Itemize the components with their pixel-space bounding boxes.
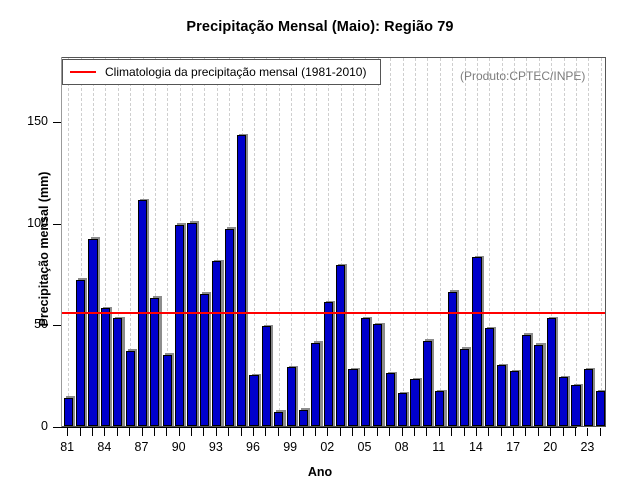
gridline <box>304 58 305 426</box>
x-tick-label: 93 <box>201 440 231 454</box>
y-tick <box>53 325 61 326</box>
bar-89[interactable] <box>163 355 172 426</box>
x-tick <box>538 428 539 436</box>
x-tick-label: 81 <box>52 440 82 454</box>
bar-95[interactable] <box>237 135 246 426</box>
x-tick <box>278 428 279 436</box>
x-tick <box>575 428 576 436</box>
legend-label: Climatologia da precipitação mensal (198… <box>105 65 366 79</box>
x-tick-label: 99 <box>275 440 305 454</box>
x-tick <box>364 428 365 436</box>
bar-23[interactable] <box>584 369 593 426</box>
x-tick <box>203 428 204 436</box>
bar-22[interactable] <box>571 385 580 426</box>
x-tick <box>92 428 93 436</box>
x-tick-label: 84 <box>89 440 119 454</box>
bar-07[interactable] <box>386 373 395 426</box>
x-tick <box>327 428 328 436</box>
x-tick <box>216 428 217 436</box>
x-tick <box>501 428 502 436</box>
x-tick <box>179 428 180 436</box>
x-tick <box>166 428 167 436</box>
x-tick <box>451 428 452 436</box>
x-tick <box>476 428 477 436</box>
bar-13[interactable] <box>460 349 469 426</box>
x-tick <box>389 428 390 436</box>
bar-97[interactable] <box>262 326 271 426</box>
x-tick <box>352 428 353 436</box>
plot-area <box>61 57 606 427</box>
x-tick <box>550 428 551 436</box>
bar-90[interactable] <box>175 225 184 426</box>
bar-83[interactable] <box>88 239 97 426</box>
gridline <box>254 58 255 426</box>
bar-86[interactable] <box>126 351 135 426</box>
x-tick <box>265 428 266 436</box>
x-tick <box>340 428 341 436</box>
gridline <box>403 58 404 426</box>
x-tick <box>525 428 526 436</box>
x-tick-label: 87 <box>127 440 157 454</box>
bar-09[interactable] <box>410 379 419 426</box>
bar-05[interactable] <box>361 318 370 426</box>
gridline <box>279 58 280 426</box>
x-tick-label: 14 <box>461 440 491 454</box>
x-tick <box>563 428 564 436</box>
x-tick <box>191 428 192 436</box>
bar-18[interactable] <box>522 335 531 426</box>
bar-06[interactable] <box>373 324 382 426</box>
bar-19[interactable] <box>534 345 543 426</box>
legend: Climatologia da precipitação mensal (198… <box>62 59 381 85</box>
x-tick <box>80 428 81 436</box>
x-tick-label: 96 <box>238 440 268 454</box>
climatology-reference-line <box>62 312 605 314</box>
x-tick-label: 11 <box>424 440 454 454</box>
x-tick <box>587 428 588 436</box>
bar-08[interactable] <box>398 393 407 426</box>
y-tick-label: 0 <box>41 419 48 433</box>
bar-91[interactable] <box>187 223 196 426</box>
x-tick <box>142 428 143 436</box>
x-tick <box>426 428 427 436</box>
x-tick <box>315 428 316 436</box>
bar-98[interactable] <box>274 412 283 426</box>
x-tick <box>414 428 415 436</box>
x-tick-label: 02 <box>312 440 342 454</box>
x-tick-label: 17 <box>498 440 528 454</box>
x-tick <box>67 428 68 436</box>
gridline <box>68 58 69 426</box>
x-tick <box>377 428 378 436</box>
x-tick <box>253 428 254 436</box>
legend-line-swatch <box>70 71 96 73</box>
x-tick <box>488 428 489 436</box>
x-tick-label: 05 <box>349 440 379 454</box>
gridline <box>440 58 441 426</box>
x-tick <box>402 428 403 436</box>
product-credit: (Produto:CPTEC/INPE) <box>460 69 585 83</box>
bar-16[interactable] <box>497 365 506 426</box>
bar-81[interactable] <box>64 398 73 426</box>
bar-24[interactable] <box>596 391 605 426</box>
bar-88[interactable] <box>150 298 159 426</box>
x-tick <box>154 428 155 436</box>
y-tick <box>53 122 61 123</box>
bar-01[interactable] <box>311 343 320 426</box>
gridline <box>415 58 416 426</box>
gridline <box>601 58 602 426</box>
x-tick <box>303 428 304 436</box>
bar-93[interactable] <box>212 261 221 426</box>
x-tick <box>117 428 118 436</box>
bar-82[interactable] <box>76 280 85 426</box>
bar-94[interactable] <box>225 229 234 426</box>
y-axis-title: Precipitação mensal (mm) <box>37 119 51 379</box>
x-tick-label: 08 <box>387 440 417 454</box>
x-tick <box>513 428 514 436</box>
bar-10[interactable] <box>423 341 432 426</box>
bar-15[interactable] <box>485 328 494 426</box>
bar-20[interactable] <box>547 318 556 426</box>
x-tick-label: 20 <box>535 440 565 454</box>
x-tick <box>241 428 242 436</box>
bar-00[interactable] <box>299 410 308 426</box>
gridline <box>576 58 577 426</box>
x-tick <box>600 428 601 436</box>
x-tick <box>104 428 105 436</box>
bar-84[interactable] <box>101 308 110 426</box>
bar-99[interactable] <box>287 367 296 426</box>
bar-03[interactable] <box>336 265 345 426</box>
chart-root: Precipitação Mensal (Maio): Região 79 05… <box>0 0 640 500</box>
x-tick-label: 90 <box>164 440 194 454</box>
x-tick <box>464 428 465 436</box>
x-tick <box>290 428 291 436</box>
y-tick <box>53 224 61 225</box>
page-title: Precipitação Mensal (Maio): Região 79 <box>0 19 640 35</box>
x-axis-title: Ano <box>0 465 640 479</box>
x-axis-line <box>61 427 577 428</box>
y-tick <box>53 427 61 428</box>
x-tick <box>439 428 440 436</box>
y-axis-line <box>61 57 62 427</box>
bar-02[interactable] <box>324 302 333 426</box>
x-tick <box>228 428 229 436</box>
bar-17[interactable] <box>510 371 519 426</box>
gridline <box>564 58 565 426</box>
bar-14[interactable] <box>472 257 481 426</box>
bar-11[interactable] <box>435 391 444 426</box>
x-tick-label: 23 <box>572 440 602 454</box>
bar-85[interactable] <box>113 318 122 426</box>
bar-04[interactable] <box>348 369 357 426</box>
bar-21[interactable] <box>559 377 568 426</box>
bar-96[interactable] <box>249 375 258 426</box>
x-tick <box>129 428 130 436</box>
